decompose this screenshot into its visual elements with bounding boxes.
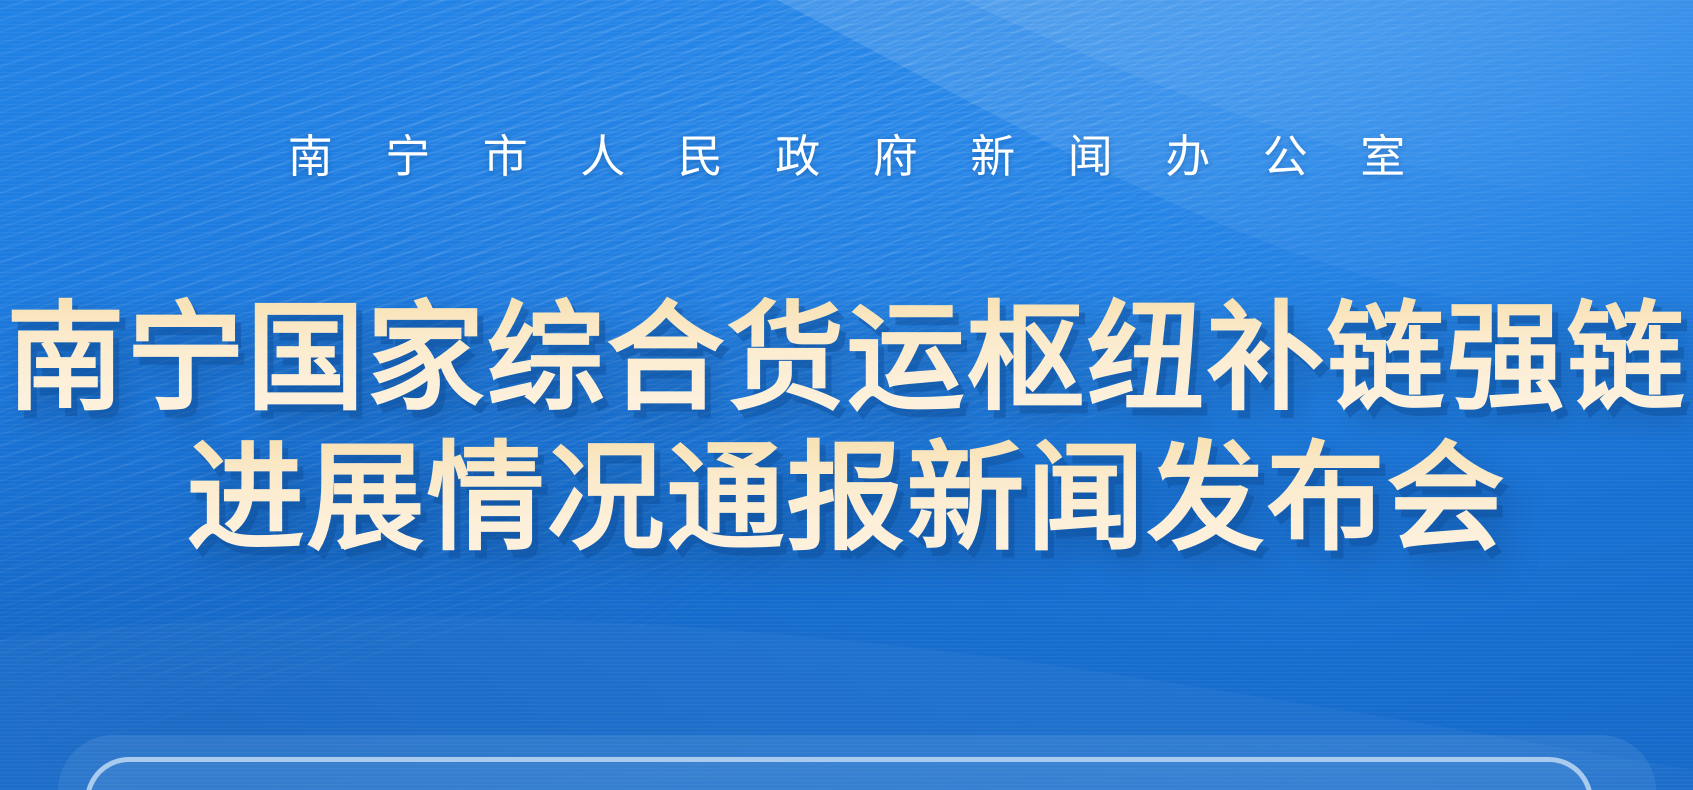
bottom-content-panel	[85, 757, 1593, 790]
page-title: 南宁国家综合货运枢纽补链强链 进展情况通报新闻发布会	[0, 288, 1693, 568]
organization-title: 南 宁 市 人 民 政 府 新 闻 办 公 室	[0, 128, 1693, 186]
press-conference-poster: 南 宁 市 人 民 政 府 新 闻 办 公 室 南宁国家综合货运枢纽补链强链 进…	[0, 0, 1693, 790]
page-title-line-1: 南宁国家综合货运枢纽补链强链	[0, 288, 1693, 428]
page-title-line-2: 进展情况通报新闻发布会	[0, 428, 1693, 568]
